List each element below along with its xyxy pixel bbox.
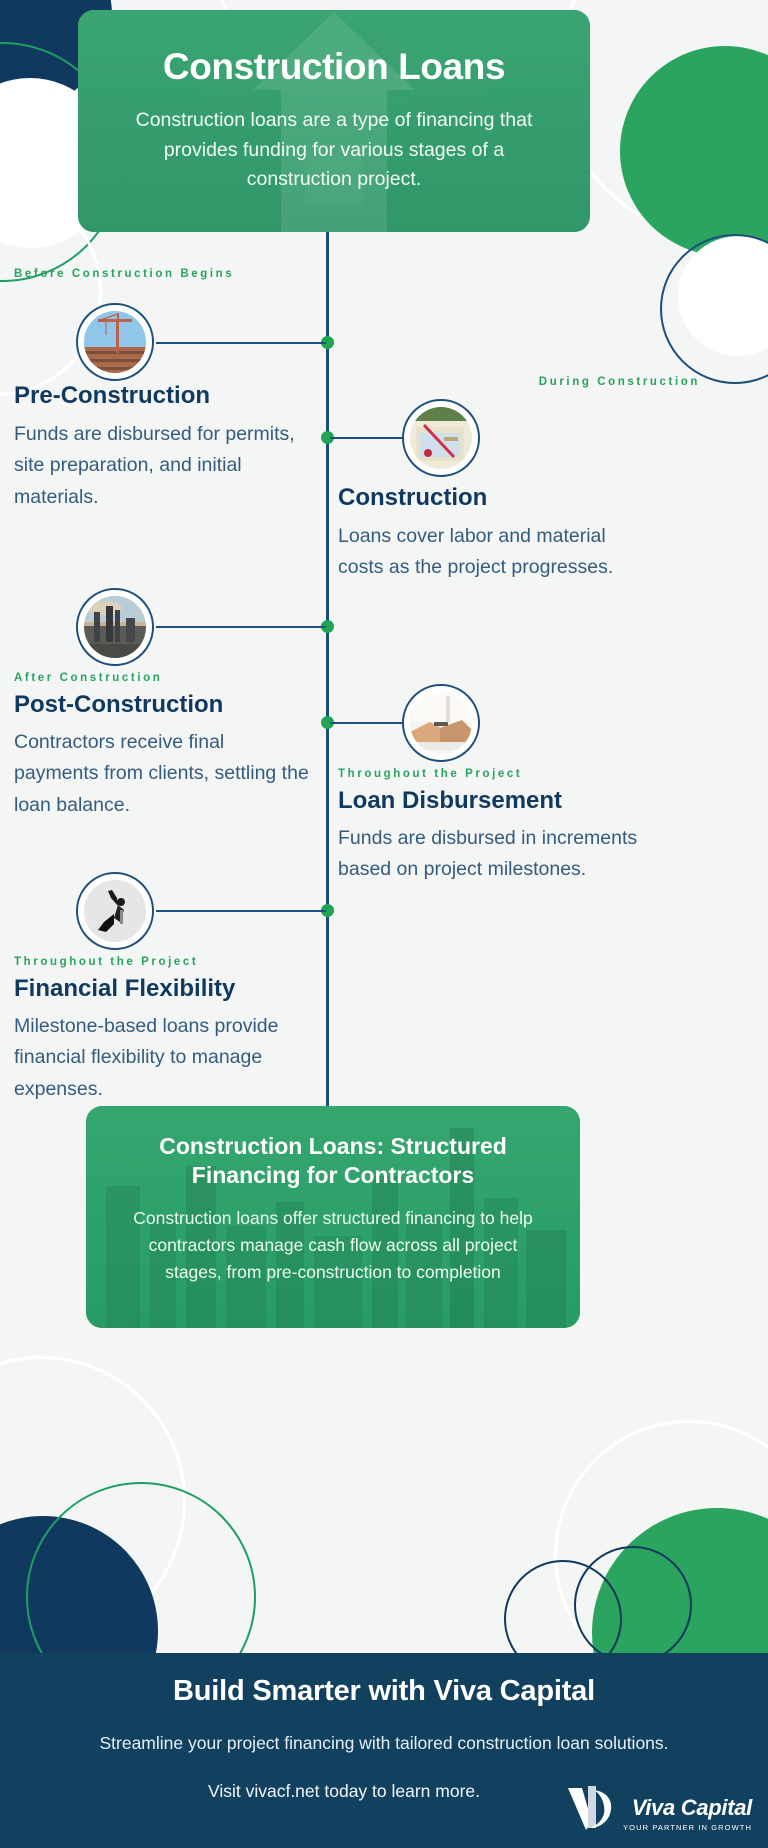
timeline-item-1-body: Funds are disbursed for permits, site pr… <box>14 419 314 514</box>
timeline-avatar-2 <box>402 399 480 477</box>
timeline-item-pre-construction: Before Construction Begins <box>14 268 324 282</box>
logo-name: Viva Capital <box>632 1797 752 1819</box>
logo-text-block: Viva Capital YOUR PARTNER IN GROWTH <box>623 1797 752 1836</box>
decor-circle-green-topright <box>620 46 768 256</box>
timeline-avatar-5 <box>76 872 154 950</box>
timeline-connector-5 <box>156 910 326 912</box>
viva-capital-logo[interactable]: Viva Capital YOUR PARTNER IN GROWTH <box>562 1774 752 1836</box>
header-card: Construction Loans Construction loans ar… <box>78 10 590 232</box>
timeline-item-1-eyebrow: Before Construction Begins <box>14 268 324 282</box>
timeline-avatar-1 <box>76 303 154 381</box>
summary-text-block: Construction Loans: Structured Financing… <box>128 1132 538 1286</box>
timeline-item-5-title: Financial Flexibility <box>14 975 324 1004</box>
timeline-item-post-construction: After Construction Post-Construction Con… <box>14 672 314 821</box>
timeline-item-2-body: Loans cover labor and material costs as … <box>338 521 638 584</box>
viva-v-checkmark-logo-icon <box>564 1784 620 1836</box>
timeline-item-1-title: Pre-Construction <box>14 382 314 411</box>
city-skyline-sunset-photo <box>84 596 146 658</box>
timeline-item-2-text: Construction Loans cover labor and mater… <box>338 484 638 584</box>
summary-body: Construction loans offer structured fina… <box>128 1205 538 1286</box>
infographic-page: Construction Loans Construction loans ar… <box>0 0 768 1848</box>
tower-crane-building-photo <box>84 311 146 373</box>
decor-circle-white-topright <box>678 236 768 356</box>
timeline-connector-2 <box>330 437 402 439</box>
timeline-spine <box>326 232 329 1122</box>
footer-banner: Build Smarter with Viva Capital Streamli… <box>0 1653 768 1848</box>
timeline-item-4-title: Loan Disbursement <box>338 787 638 816</box>
summary-card: Construction Loans: Structured Financing… <box>86 1106 580 1328</box>
timeline-item-5-eyebrow: Throughout the Project <box>14 956 324 970</box>
timeline-item-construction: During Construction <box>400 376 700 390</box>
timeline-item-financial-flexibility: Throughout the Project Financial Flexibi… <box>14 956 324 1105</box>
page-subtitle: Construction loans are a type of financi… <box>112 106 556 195</box>
footer-title: Build Smarter with Viva Capital <box>0 1653 768 1708</box>
construction-blueprint-tools-photo <box>410 407 472 469</box>
decor-ring-navy-topright <box>660 234 768 384</box>
decor-ring-white-bottomleft <box>0 1356 186 1646</box>
timeline-avatar-4 <box>402 684 480 762</box>
footer-subtitle: Streamline your project financing with t… <box>0 1732 768 1755</box>
header-text-block: Construction Loans Construction loans ar… <box>112 47 556 195</box>
timeline-item-3-title: Post-Construction <box>14 691 314 720</box>
timeline-connector-4 <box>330 722 402 724</box>
timeline-item-2-title: Construction <box>338 484 638 513</box>
timeline-item-1-text: Pre-Construction Funds are disbursed for… <box>14 382 314 514</box>
logo-tagline: YOUR PARTNER IN GROWTH <box>623 1823 752 1832</box>
timeline-connector-1 <box>156 342 326 344</box>
decor-ring-white-bottomright <box>554 1420 768 1690</box>
timeline-connector-3 <box>156 626 326 628</box>
summary-title: Construction Loans: Structured Financing… <box>128 1132 538 1191</box>
timeline-item-3-body: Contractors receive final payments from … <box>14 727 314 822</box>
businessman-jumping-photo <box>84 880 146 942</box>
timeline-item-3-eyebrow: After Construction <box>14 672 314 686</box>
timeline-avatar-3 <box>76 588 154 666</box>
timeline-item-4-eyebrow: Throughout the Project <box>338 768 638 782</box>
timeline-item-5-body: Milestone-based loans provide financial … <box>14 1011 324 1106</box>
timeline-item-loan-disbursement: Throughout the Project Loan Disbursement… <box>338 768 638 886</box>
decor-ring-navy-bottomright-2 <box>574 1546 692 1664</box>
timeline-item-2-eyebrow: During Construction <box>400 376 700 390</box>
handshake-documents-photo <box>410 692 472 754</box>
timeline-item-4-body: Funds are disbursed in increments based … <box>338 823 638 886</box>
page-title: Construction Loans <box>112 47 556 88</box>
